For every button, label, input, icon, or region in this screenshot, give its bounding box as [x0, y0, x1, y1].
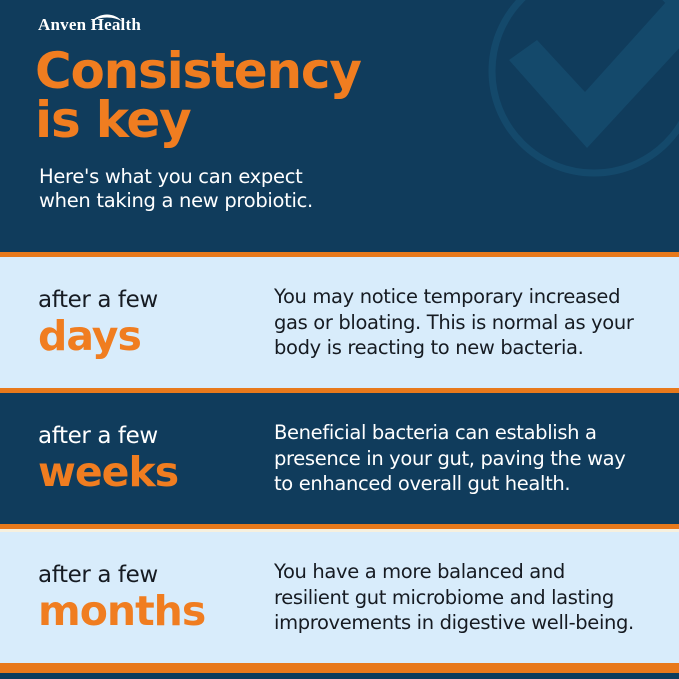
roof-swoosh-icon — [90, 11, 124, 23]
timeline-label-weeks: after a few weeks — [38, 424, 270, 493]
page-title: Consistency is key — [35, 47, 679, 145]
infographic-poster: Anven Health Consistency is key Here's w… — [0, 0, 679, 679]
timeline-body-weeks: Beneficial bacteria can establish a pres… — [270, 420, 655, 498]
timeline-body-months: You have a more balanced and resilient g… — [270, 559, 655, 637]
header-section: Anven Health Consistency is key Here's w… — [0, 0, 679, 252]
timeline-prefix: after a few — [38, 563, 270, 589]
timeline-prefix: after a few — [38, 424, 270, 450]
timeline-label-days: after a few days — [38, 288, 270, 357]
timeline-row-weeks: after a few weeks Beneficial bacteria ca… — [0, 393, 679, 524]
page-subtitle: Here's what you can expect when taking a… — [39, 165, 679, 214]
timeline-unit: months — [38, 590, 270, 633]
timeline-unit: days — [38, 315, 270, 358]
timeline-label-months: after a few months — [38, 563, 270, 632]
timeline-row-months: after a few months You have a more balan… — [0, 532, 679, 663]
timeline-body-days: You may notice temporary increased gas o… — [270, 284, 655, 362]
timeline-unit: weeks — [38, 451, 270, 494]
footer-bar — [0, 663, 679, 673]
header-content: Anven Health Consistency is key Here's w… — [0, 0, 679, 214]
timeline-prefix: after a few — [38, 288, 270, 314]
brand-logo: Anven Health — [38, 12, 141, 38]
timeline-row-days: after a few days You may notice temporar… — [0, 257, 679, 388]
